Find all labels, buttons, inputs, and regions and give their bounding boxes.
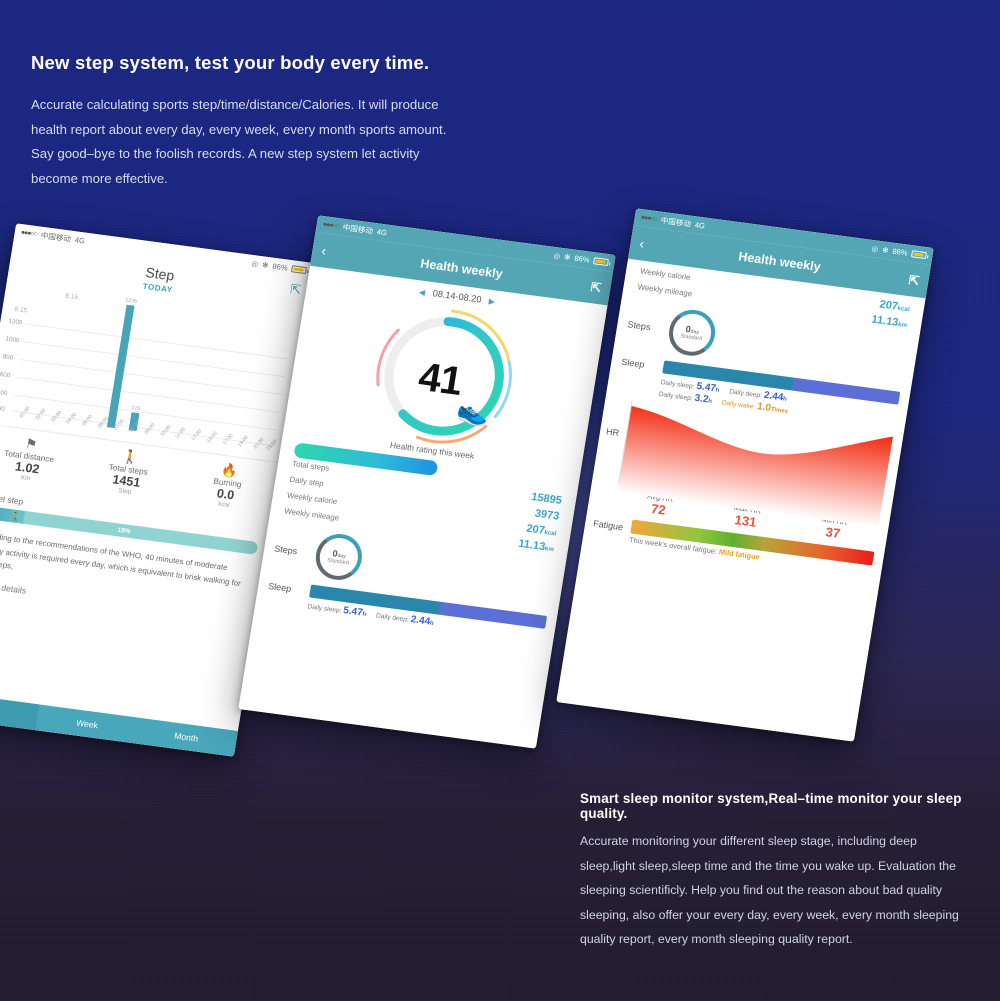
daily-sleep-label: Daily sleep:	[307, 603, 342, 614]
daily-deep-label: Daily deep:	[375, 612, 409, 623]
stat-total-distance: ⚑ Total distance 1.02 Km	[0, 430, 82, 489]
weekly-stat-value: 207	[879, 298, 899, 312]
top-body-text: Accurate calculating sports step/time/di…	[31, 93, 451, 191]
tab-day[interactable]: Day	[0, 691, 40, 730]
weekly-stat-unit: km	[898, 321, 908, 329]
alarm-icon: ◎	[251, 259, 259, 269]
weekly-stat-value: 15895	[530, 491, 562, 507]
stat-burning: 🔥 Burning 0.0 kcal	[174, 456, 281, 515]
daily-wake-unit: Times	[770, 407, 788, 415]
top-headline: New step system, test your body every ti…	[31, 52, 429, 74]
network-label: 4G	[376, 227, 387, 237]
battery-percent: 86%	[892, 247, 909, 258]
carrier-label: 中国移动	[660, 215, 692, 230]
bluetooth-icon: ✻	[563, 252, 571, 262]
signal-dots-icon: ●●●○○	[322, 221, 339, 230]
fatigue-note-value: Mild fatigue	[718, 547, 760, 561]
chart-date-prev: 8.15	[14, 306, 28, 315]
alarm-icon: ◎	[871, 244, 879, 254]
daily-light-label: Daily sleep:	[658, 391, 693, 402]
battery-percent: 86%	[574, 254, 591, 265]
steps-label: Steps	[627, 319, 662, 333]
hr-label: HR	[605, 426, 619, 438]
signal-dots-icon: ●●●○○	[640, 214, 657, 223]
steps-ring-sub: Standard	[327, 557, 350, 566]
bottom-headline: Smart sleep monitor system,Real–time mon…	[580, 791, 1000, 821]
page-title: Health weekly	[419, 256, 503, 281]
carrier-label: 中国移动	[342, 222, 374, 237]
steps-standard-ring: 0day Standard	[666, 307, 719, 358]
back-icon[interactable]: ‹	[638, 235, 645, 251]
stat-total-steps: 🚶 Total steps 1451 Step	[75, 443, 182, 502]
next-week-icon[interactable]: ▶	[483, 296, 500, 307]
share-icon[interactable]: ⇱	[590, 279, 603, 295]
weekly-stat-unit: kcal	[544, 529, 557, 538]
daily-sleep-unit: h	[715, 387, 720, 393]
sneaker-icon: 👟	[454, 395, 491, 430]
daily-deep-unit: h	[429, 621, 434, 627]
daily-sleep-value: 5.47	[342, 605, 363, 618]
battery-icon	[911, 250, 927, 259]
signal-dots-icon: ●●●○○	[20, 229, 37, 238]
prev-week-icon[interactable]: ◀	[413, 287, 430, 298]
bluetooth-icon: ✻	[881, 245, 889, 255]
bottom-body-text: Accurate monitoring your different sleep…	[580, 829, 972, 952]
sleep-label: Sleep	[268, 580, 303, 594]
chart-bar-label: 175	[131, 405, 141, 412]
health-score-value: 41	[415, 355, 464, 405]
battery-percent: 86%	[272, 262, 289, 273]
weekly-stat-value: 11.13	[517, 538, 546, 553]
share-icon[interactable]: ⇱	[908, 272, 921, 288]
daily-wake-label: Daily wake:	[721, 399, 756, 410]
battery-icon	[593, 257, 609, 266]
bluetooth-icon: ✻	[261, 260, 269, 270]
steps-ring-sub: Standard	[680, 333, 703, 342]
daily-light-unit: h	[708, 399, 713, 405]
alarm-icon: ◎	[553, 251, 561, 261]
page-title: Health weekly	[737, 249, 821, 274]
daily-deep-unit: h	[782, 396, 787, 402]
steps-label: Steps	[274, 543, 309, 557]
walking-icon: 🚶	[10, 511, 21, 521]
daily-deep-value: 2.44	[410, 614, 431, 627]
weekly-stat-unit: km	[544, 545, 554, 553]
weekly-stat-value: 11.13	[871, 314, 900, 329]
back-icon[interactable]: ‹	[320, 242, 327, 258]
carrier-label: 中国移动	[40, 230, 72, 245]
chart-bar-label: 1276	[125, 297, 137, 304]
network-label: 4G	[694, 220, 705, 230]
target-step-percent: 18%	[117, 526, 131, 535]
network-label: 4G	[74, 235, 85, 245]
daily-sleep-unit: h	[362, 612, 367, 618]
weekly-stat-value: 3973	[534, 508, 560, 523]
weekly-stat-value: 207	[525, 523, 545, 537]
sleep-label: Sleep	[621, 356, 656, 370]
battery-icon	[291, 265, 307, 274]
weekly-stat-unit: kcal	[897, 305, 910, 314]
steps-standard-ring: 0day Standard	[312, 531, 365, 582]
